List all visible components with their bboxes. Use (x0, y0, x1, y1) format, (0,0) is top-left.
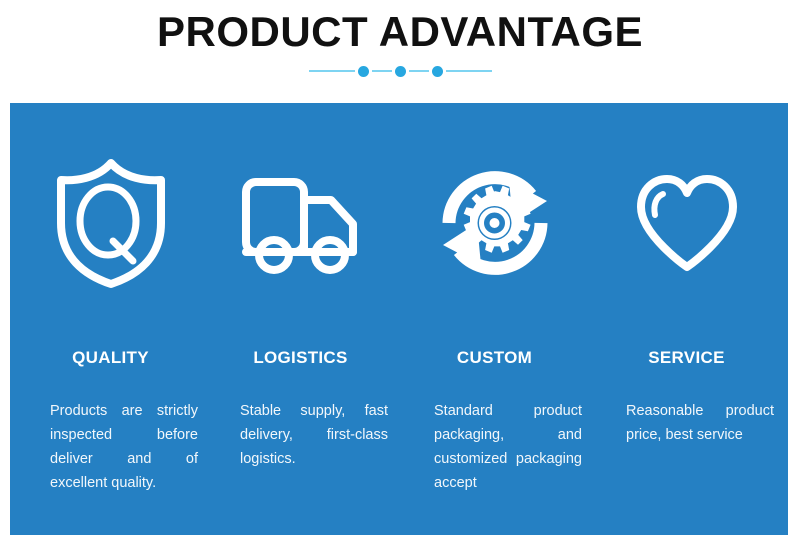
divider-dot-1 (358, 66, 369, 77)
feature-column-service: SERVICE Reasonable product price, best s… (614, 103, 800, 535)
feature-panel: QUALITY Products are strictly inspected … (10, 103, 788, 535)
divider-line-right (446, 70, 492, 72)
heart-icon (614, 148, 759, 298)
feature-body-quality: Products are strictly inspected before d… (50, 399, 198, 495)
feature-columns: QUALITY Products are strictly inspected … (10, 103, 788, 535)
feature-body-service: Reasonable product price, best service (626, 399, 774, 447)
feature-heading-logistics: LOGISTICS (228, 348, 373, 368)
feature-body-custom: Standard product packaging, and customiz… (434, 399, 582, 495)
product-advantage-banner: PRODUCT ADVANTAGE QUALI (0, 0, 800, 550)
feature-column-quality: QUALITY Products are strictly inspected … (38, 103, 228, 535)
feature-heading-quality: QUALITY (38, 348, 183, 368)
divider-line-mid-1 (372, 70, 392, 72)
feature-heading-custom: CUSTOM (422, 348, 567, 368)
feature-body-logistics: Stable supply, fast delivery, first-clas… (240, 399, 388, 471)
divider-dot-3 (432, 66, 443, 77)
page-title: PRODUCT ADVANTAGE (0, 8, 800, 56)
feature-column-logistics: LOGISTICS Stable supply, fast delivery, … (228, 103, 418, 535)
header: PRODUCT ADVANTAGE (0, 0, 800, 100)
divider-dot-2 (395, 66, 406, 77)
divider-line-mid-2 (409, 70, 429, 72)
feature-heading-service: SERVICE (614, 348, 759, 368)
feature-column-custom: CUSTOM Standard product packaging, and c… (422, 103, 612, 535)
delivery-truck-icon (228, 148, 373, 298)
divider-line-left (309, 70, 355, 72)
decorative-divider (0, 63, 800, 79)
shield-quality-icon (38, 148, 183, 298)
gear-refresh-icon (422, 148, 567, 298)
